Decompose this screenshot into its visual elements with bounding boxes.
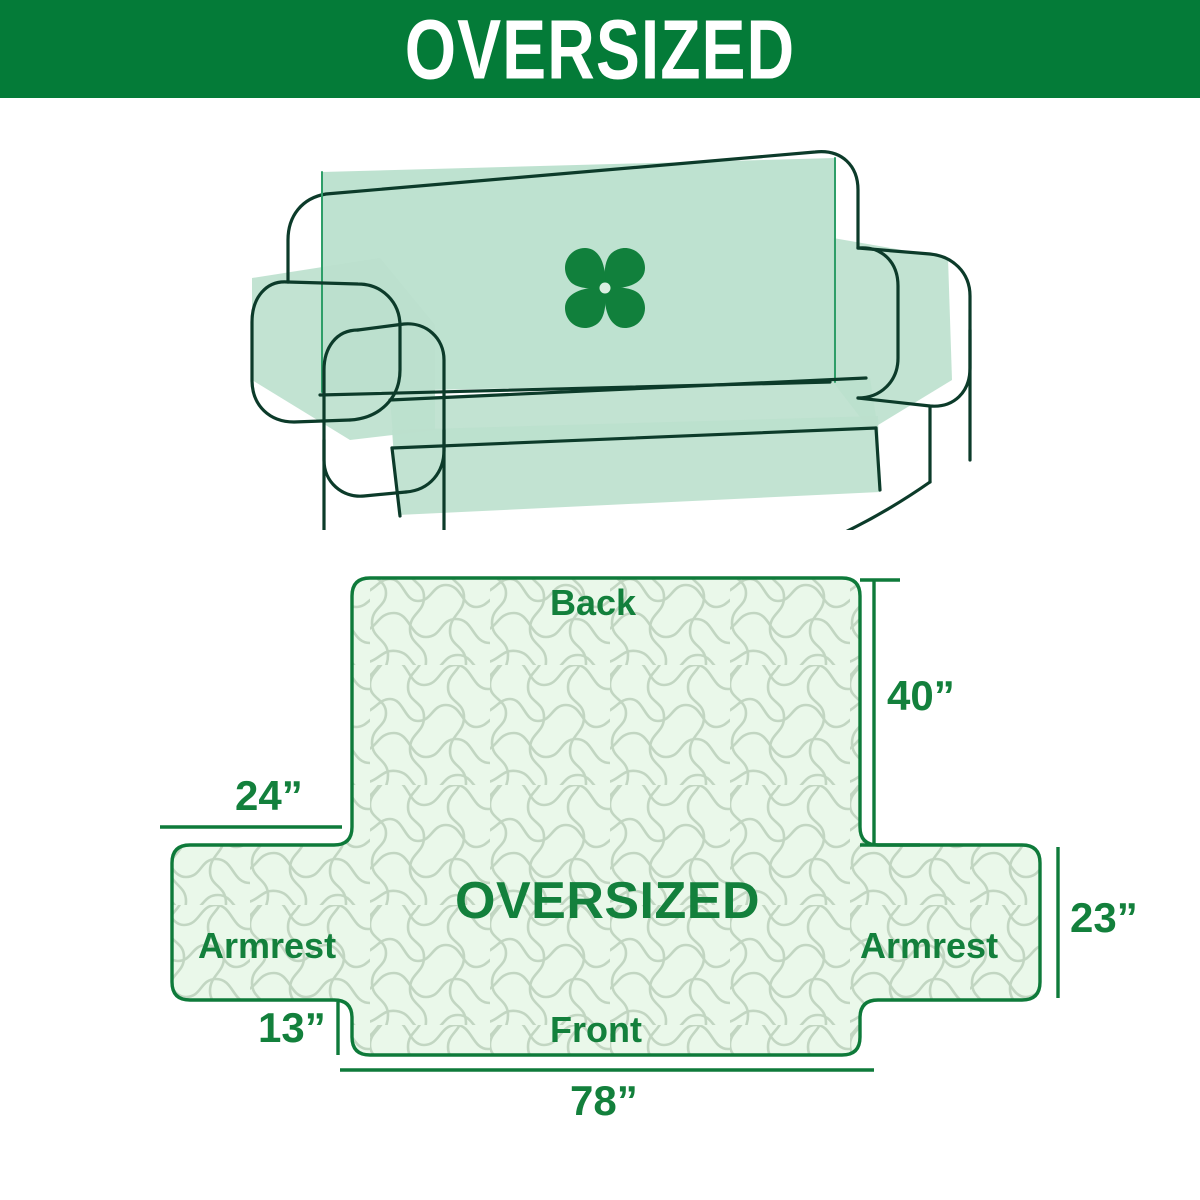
page-title: OVERSIZED [405,7,795,91]
measurement-label-78: 78” [570,1080,638,1122]
panel-label-right-armrest: Armrest [860,928,998,964]
panel-label-back: Back [550,585,636,621]
measurement-label-23: 23” [1070,897,1138,939]
panel-label-oversized: OVERSIZED [455,875,760,927]
sofa-drawing [230,130,990,530]
dimension-diagram: Back Armrest Armrest Front OVERSIZED 40”… [130,545,1090,1145]
sofa-illustration [230,130,990,530]
panel-label-left-armrest: Armrest [198,928,336,964]
header-banner: OVERSIZED [0,0,1200,98]
measurement-label-40: 40” [887,675,955,717]
measurement-label-24: 24” [235,775,303,817]
slipcover-fill [252,158,952,515]
measurement-label-13: 13” [258,1007,326,1049]
flat-layout-svg [130,545,1090,1145]
panel-label-front: Front [550,1012,642,1048]
